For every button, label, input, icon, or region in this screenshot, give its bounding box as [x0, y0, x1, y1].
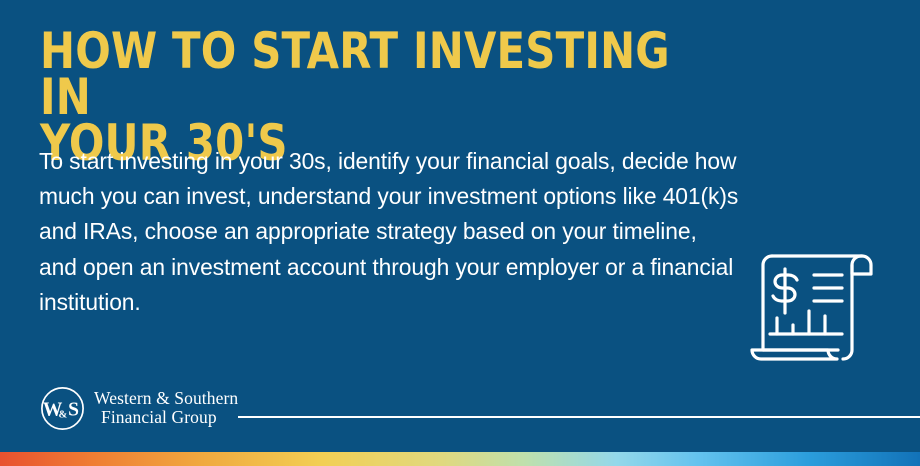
scroll-curl-top-right: [852, 256, 871, 274]
scroll-right-edge: [843, 265, 852, 359]
bottom-gradient-bar: [0, 452, 920, 466]
scroll-left-edge: [763, 256, 772, 350]
monogram-ampersand: &: [59, 409, 68, 420]
brand-wordmark: Western & Southern Financial Group: [94, 369, 238, 447]
ws-monogram-icon: W & S: [40, 386, 85, 431]
scroll-curl-bottom-left: [752, 350, 837, 359]
brand-logo: W & S Western & Southern Financial Group: [40, 380, 238, 436]
infographic-card: HOW TO START INVESTING IN YOUR 30'S To s…: [0, 0, 920, 466]
wordmark-line-1: Western & Southern: [94, 388, 238, 408]
footer-divider: [238, 416, 920, 418]
footer: W & S Western & Southern Financial Group: [0, 378, 920, 440]
body-paragraph: To start investing in your 30s, identify…: [39, 144, 740, 320]
financial-document-scroll-icon: [744, 238, 884, 378]
monogram-letter-s: S: [68, 399, 79, 420]
wordmark-line-2: Financial Group: [94, 408, 238, 428]
